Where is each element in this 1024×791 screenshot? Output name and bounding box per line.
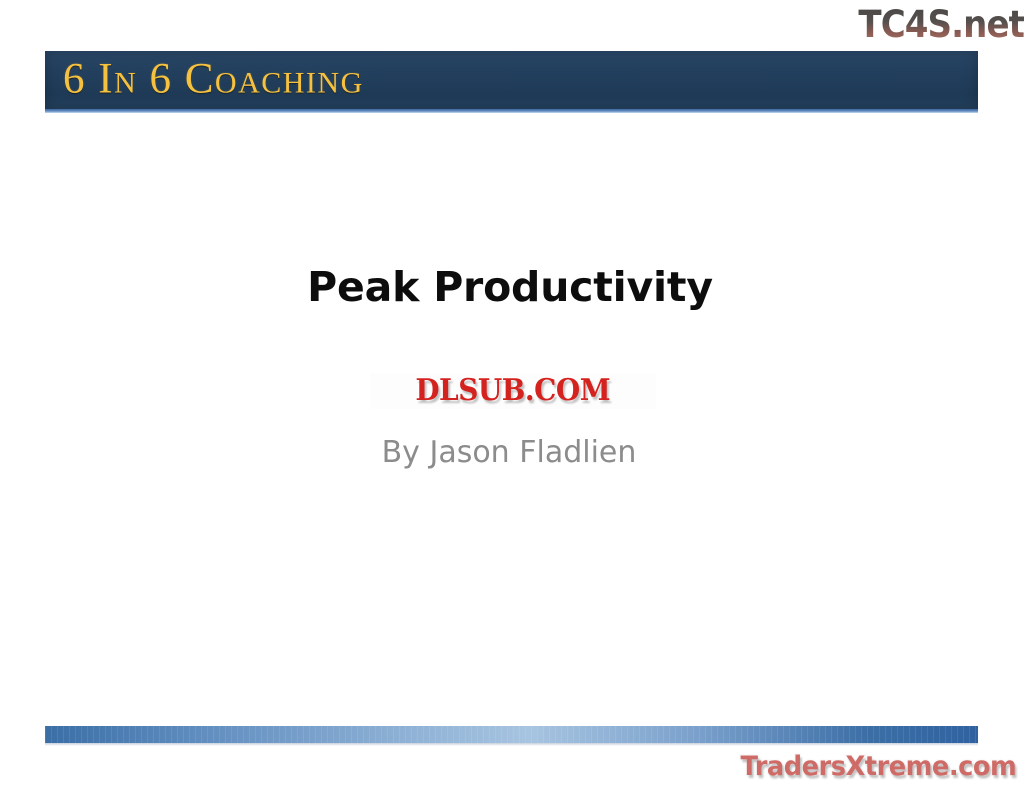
- tradersxtreme-watermark-text: TradersXtreme.com: [740, 753, 1016, 780]
- dlsub-watermark: DLSUB.COM: [370, 373, 656, 409]
- tc4s-watermark: TC4S.net TC4S.net: [818, 2, 1024, 46]
- footer-bar-shadow: [45, 743, 978, 746]
- author-byline: By Jason Fladlien: [0, 436, 1024, 471]
- presentation-slide: TC4S.net TC4S.net 6 In 6 Coaching Peak P…: [0, 0, 1024, 791]
- page-title: Peak Productivity: [0, 265, 1024, 310]
- banner-title: 6 In 6 Coaching: [63, 58, 364, 101]
- header-banner: 6 In 6 Coaching: [45, 51, 978, 109]
- header-banner-underline: [45, 109, 978, 113]
- author-byline-text: By Jason Fladlien: [382, 436, 637, 471]
- tc4s-watermark-text: TC4S.net: [858, 6, 1024, 43]
- footer-bar: [45, 726, 978, 743]
- page-title-text: Peak Productivity: [307, 265, 713, 310]
- tradersxtreme-watermark: TradersXtreme.com: [706, 748, 1016, 784]
- tc4s-watermark-shadow: TC4S.net: [860, 5, 1024, 42]
- dlsub-watermark-text: DLSUB.COM: [416, 376, 611, 406]
